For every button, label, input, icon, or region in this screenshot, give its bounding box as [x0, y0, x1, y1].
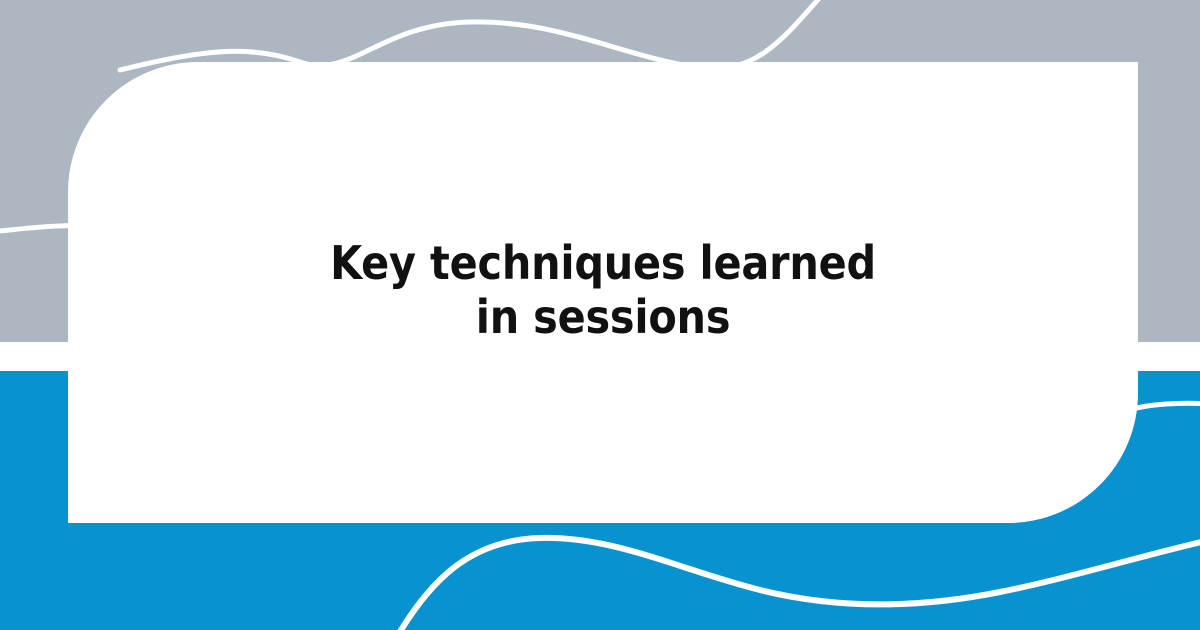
social-card-canvas: Key techniques learned in sessions — [0, 0, 1200, 630]
card-inner: Key techniques learned in sessions — [283, 237, 923, 349]
page-title: Key techniques learned in sessions — [283, 237, 923, 345]
content-card: Key techniques learned in sessions — [68, 62, 1138, 523]
